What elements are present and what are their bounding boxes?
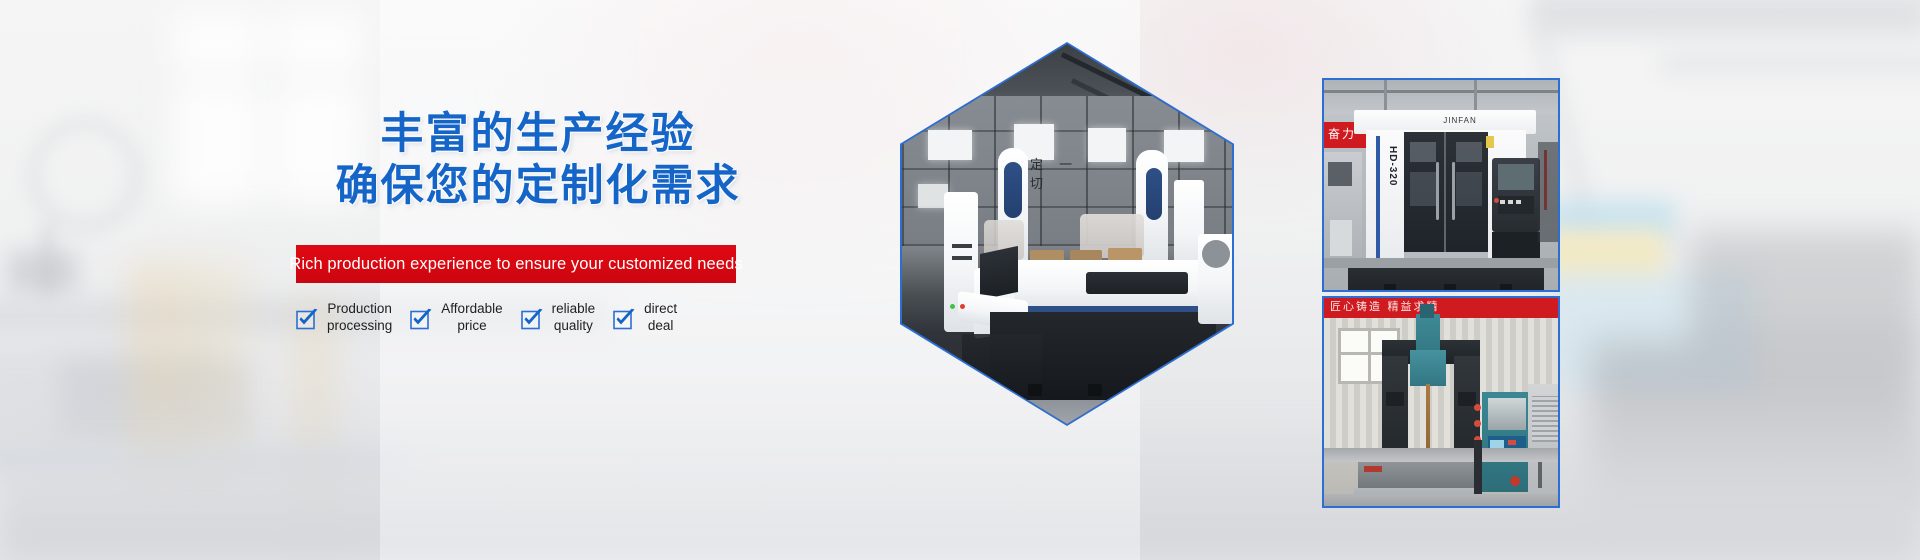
hexagon-photo-clip: 定 一 切 bbox=[902, 44, 1232, 424]
feature-item-production-processing: Productionprocessing bbox=[296, 300, 392, 334]
checkbox-checked-icon bbox=[521, 308, 543, 330]
feature-item-direct-deal: directdeal bbox=[613, 300, 677, 334]
workshop-wall-sign: 定 一 切 bbox=[1030, 154, 1096, 170]
checkbox-checked-icon bbox=[613, 308, 635, 330]
feature-label: Productionprocessing bbox=[327, 300, 392, 334]
subtitle-bar: Rich production experience to ensure you… bbox=[296, 245, 736, 283]
side-image-gantry-machine: 匠心铸造 精益求精 bbox=[1322, 296, 1560, 508]
hero-hexagon-image: 定 一 切 bbox=[900, 42, 1234, 426]
feature-label: Affordableprice bbox=[441, 300, 502, 334]
feature-item-affordable-price: Affordableprice bbox=[410, 300, 502, 334]
side-image-hd320: 奋力 HD-320 JINFAN bbox=[1322, 78, 1560, 292]
machine-brand-label: JINFAN bbox=[1424, 116, 1496, 125]
headline-line-2: 确保您的定制化需求 bbox=[328, 160, 748, 212]
feature-label: reliablequality bbox=[552, 300, 596, 334]
machine-model-label: HD-320 bbox=[1382, 146, 1398, 236]
feature-item-reliable-quality: reliablequality bbox=[521, 300, 596, 334]
feature-label: directdeal bbox=[644, 300, 677, 334]
checkbox-checked-icon bbox=[296, 308, 318, 330]
hero-banner: 丰富的生产经验 确保您的定制化需求 Rich production experi… bbox=[0, 0, 1920, 560]
feature-list: Productionprocessing Affordableprice rel… bbox=[296, 300, 796, 354]
checkbox-checked-icon bbox=[410, 308, 432, 330]
cnc-machine-photo: 定 一 切 bbox=[902, 44, 1232, 424]
headline: 丰富的生产经验 确保您的定制化需求 bbox=[328, 108, 748, 212]
headline-line-1: 丰富的生产经验 bbox=[328, 108, 748, 160]
subtitle-text: Rich production experience to ensure you… bbox=[289, 255, 742, 274]
